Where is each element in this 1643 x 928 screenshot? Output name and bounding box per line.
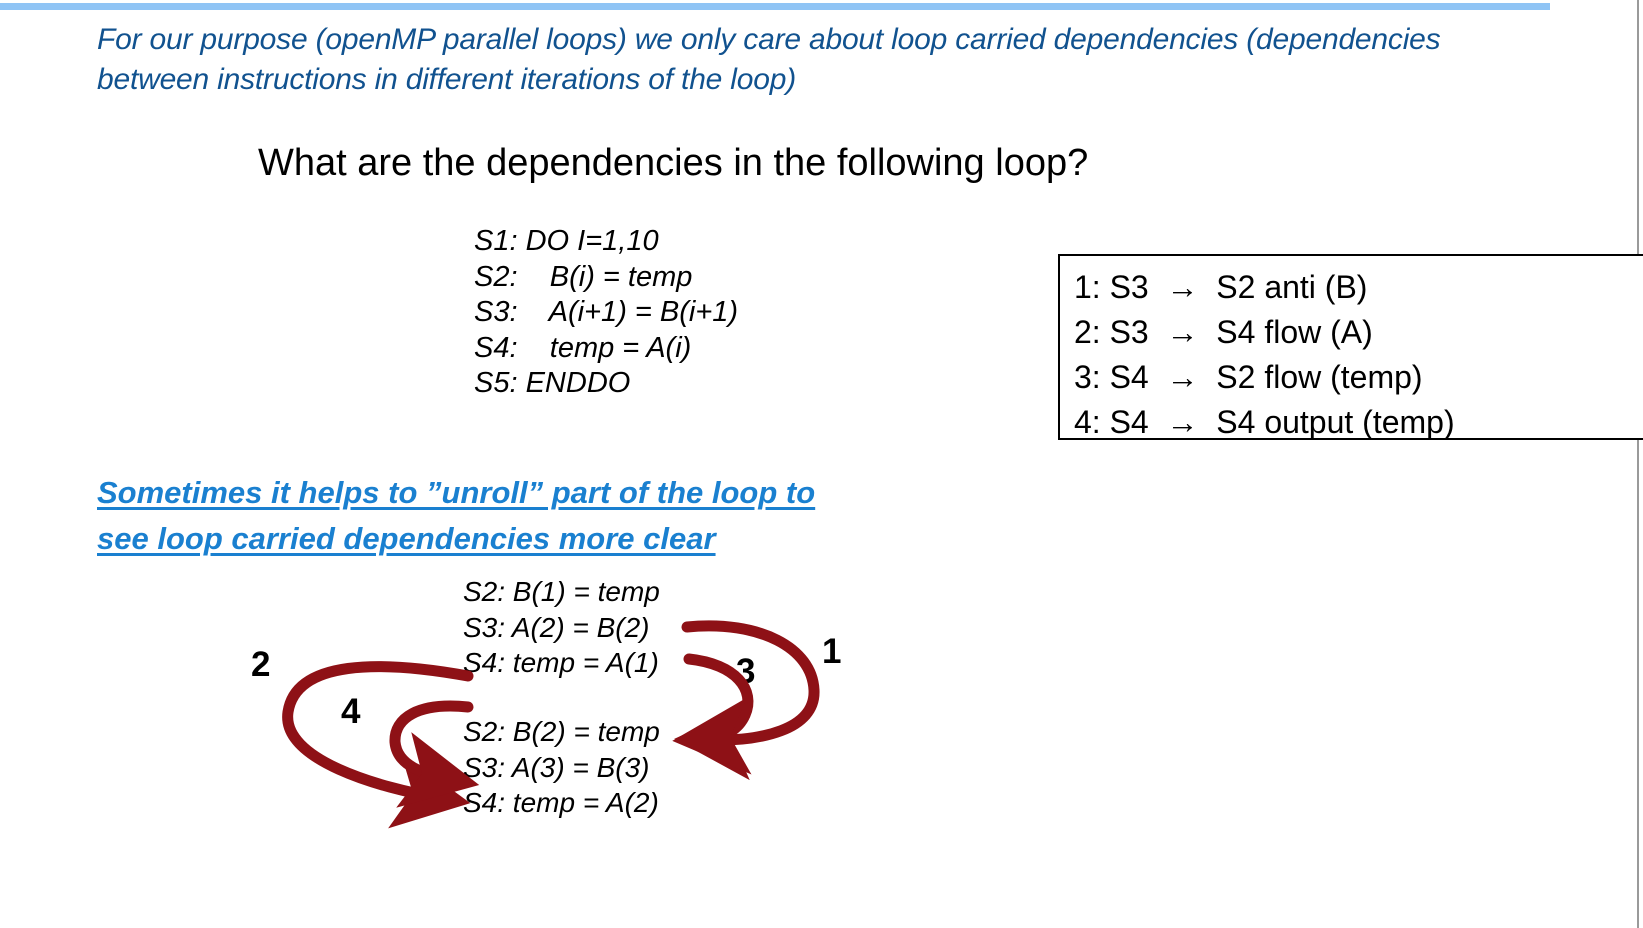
arrow-label-3: 3	[736, 654, 755, 689]
loop-code-block: S1: DO I=1,10 S2: B(i) = temp S3: A(i+1)…	[474, 224, 738, 402]
unroll-note-line1: Sometimes it helps to ”unroll” part of t…	[97, 475, 815, 510]
arrow-label-1: 1	[822, 634, 841, 669]
dependency-list-box: 1: S3 → S2 anti (B) 2: S3 → S4 flow (A) …	[1058, 254, 1643, 440]
arrow-label-2: 2	[251, 647, 270, 682]
unroll-note-line2: see loop carried dependencies more clear	[97, 521, 716, 556]
dependency-item: 1: S3 → S2 anti (B)	[1074, 265, 1643, 310]
unrolled-iteration-1: S2: B(1) = temp S3: A(2) = B(2) S4: temp…	[463, 574, 660, 681]
intro-paragraph: For our purpose (openMP parallel loops) …	[97, 20, 1497, 100]
page-right-edge	[1637, 0, 1639, 928]
page-title: What are the dependencies in the followi…	[258, 137, 1088, 189]
dependency-item: 2: S3 → S4 flow (A)	[1074, 310, 1643, 355]
dependency-item: 4: S4 → S4 output (temp)	[1074, 400, 1643, 445]
unroll-note: Sometimes it helps to ”unroll” part of t…	[97, 470, 1097, 562]
arrow-label-4: 4	[341, 694, 360, 729]
top-accent-rule	[0, 3, 1550, 10]
dependency-item: 3: S4 → S2 flow (temp)	[1074, 355, 1643, 400]
dependency-arrow-4	[395, 706, 468, 779]
unrolled-iteration-2: S2: B(2) = temp S3: A(3) = B(3) S4: temp…	[463, 714, 660, 821]
dependency-arrow-2	[288, 667, 468, 798]
